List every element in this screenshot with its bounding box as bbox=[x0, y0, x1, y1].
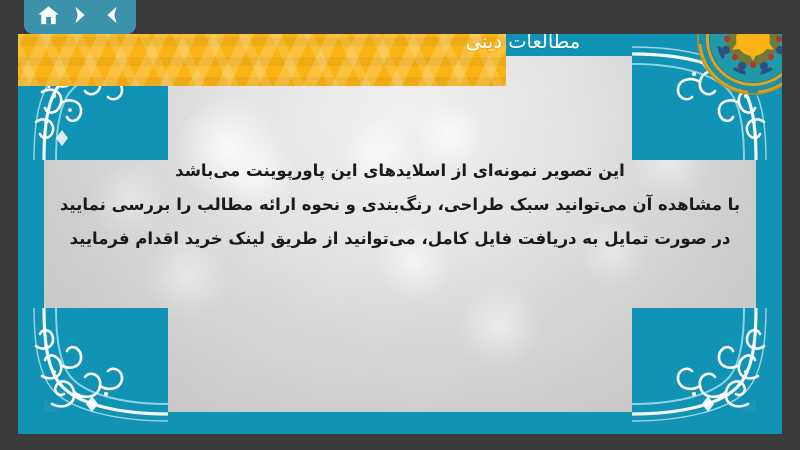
arabesque-icon bbox=[632, 306, 782, 434]
slide-title: کامل بررسی روش‌های ساماندهی اطلاعات علمی… bbox=[308, 34, 738, 56]
next-slide-button[interactable] bbox=[67, 2, 93, 28]
medallion-icon bbox=[696, 34, 782, 96]
arabesque-icon bbox=[18, 306, 168, 434]
presentation-viewer: کامل بررسی روش‌های ساماندهی اطلاعات علمی… bbox=[0, 0, 800, 450]
islamic-medallion-ornament bbox=[696, 34, 782, 96]
body-line: این تصویر نمونه‌ای از اسلایدهای این پاور… bbox=[58, 154, 742, 188]
slide-body-text: این تصویر نمونه‌ای از اسلایدهای این پاور… bbox=[58, 154, 742, 256]
corner-ornament-bottom-right bbox=[632, 306, 782, 434]
slide-navigation-bar bbox=[24, 0, 136, 34]
corner-ornament-bottom-left bbox=[18, 306, 168, 434]
triangle-right-icon bbox=[69, 4, 91, 26]
slide-canvas: کامل بررسی روش‌های ساماندهی اطلاعات علمی… bbox=[18, 34, 782, 434]
home-button[interactable] bbox=[35, 2, 61, 28]
body-line: با مشاهده آن می‌توانید سبک طراحی، رنگ‌بن… bbox=[58, 188, 742, 222]
title-banner: کامل بررسی روش‌های ساماندهی اطلاعات علمی… bbox=[18, 34, 782, 106]
body-line: در صورت تمایل به دریافت فایل کامل، می‌تو… bbox=[58, 222, 742, 256]
previous-slide-button[interactable] bbox=[99, 2, 125, 28]
triangle-left-icon bbox=[101, 4, 123, 26]
home-icon bbox=[37, 4, 60, 27]
